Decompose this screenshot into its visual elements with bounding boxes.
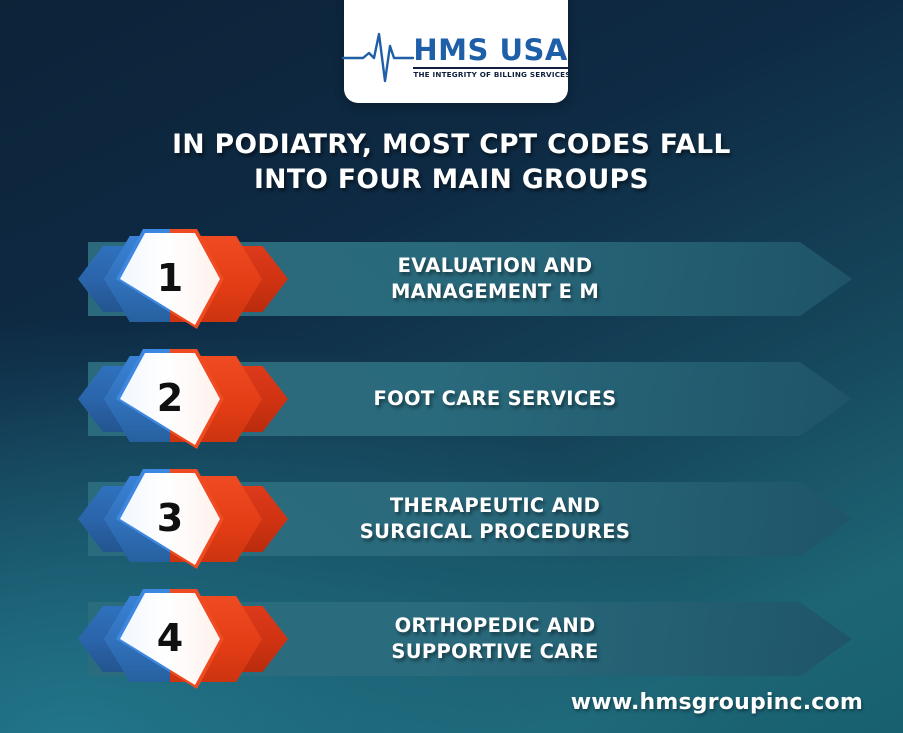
logo-tagline: THE INTEGRITY OF BILLING SERVICES xyxy=(413,71,570,78)
group-label-line-2: SUPPORTIVE CARE xyxy=(391,639,598,665)
group-row-label: EVALUATION AND MANAGEMENT E M xyxy=(275,227,715,331)
group-row: ORTHOPEDIC AND SUPPORTIVE CARE 4 xyxy=(0,587,903,691)
group-number-hexagon-cluster: 3 xyxy=(78,467,288,571)
group-row: FOOT CARE SERVICES 2 xyxy=(0,347,903,451)
group-label-line-2: MANAGEMENT E M xyxy=(391,279,599,305)
infographic-canvas: HMS USA THE INTEGRITY OF BILLING SERVICE… xyxy=(0,0,903,733)
group-label-line-1: THERAPEUTIC AND xyxy=(360,493,630,519)
group-row-label: ORTHOPEDIC AND SUPPORTIVE CARE xyxy=(275,587,715,691)
logo-card: HMS USA THE INTEGRITY OF BILLING SERVICE… xyxy=(344,0,568,103)
group-number-hexagon-cluster: 2 xyxy=(78,347,288,451)
group-label-line-1: ORTHOPEDIC AND xyxy=(391,613,598,639)
group-label-line-1: FOOT CARE SERVICES xyxy=(374,386,617,412)
group-number-hexagon-cluster: 1 xyxy=(78,227,288,331)
group-label-line-1: EVALUATION AND xyxy=(391,253,599,279)
group-number: 3 xyxy=(157,499,183,537)
group-row: THERAPEUTIC AND SURGICAL PROCEDURES 3 xyxy=(0,467,903,571)
logo-lockup: HMS USA THE INTEGRITY OF BILLING SERVICE… xyxy=(341,31,570,83)
group-row-label: THERAPEUTIC AND SURGICAL PROCEDURES xyxy=(275,467,715,571)
group-number: 1 xyxy=(157,259,183,297)
group-row: EVALUATION AND MANAGEMENT E M 1 xyxy=(0,227,903,331)
footer-website-url[interactable]: www.hmsgroupinc.com xyxy=(571,690,863,715)
page-title-line-1: IN PODIATRY, MOST CPT CODES FALL xyxy=(0,128,903,163)
group-number: 4 xyxy=(157,619,183,657)
group-number-hexagon-cluster: 4 xyxy=(78,587,288,691)
logo-wordmark: HMS USA xyxy=(413,36,568,65)
group-row-label: FOOT CARE SERVICES xyxy=(275,347,715,451)
group-number: 2 xyxy=(157,379,183,417)
page-title: IN PODIATRY, MOST CPT CODES FALL INTO FO… xyxy=(0,128,903,197)
logo-divider xyxy=(413,67,570,69)
logo-text: HMS USA THE INTEGRITY OF BILLING SERVICE… xyxy=(413,36,570,78)
page-title-line-2: INTO FOUR MAIN GROUPS xyxy=(0,163,903,198)
ekg-heartbeat-icon xyxy=(341,31,415,83)
group-label-line-2: SURGICAL PROCEDURES xyxy=(360,519,630,545)
